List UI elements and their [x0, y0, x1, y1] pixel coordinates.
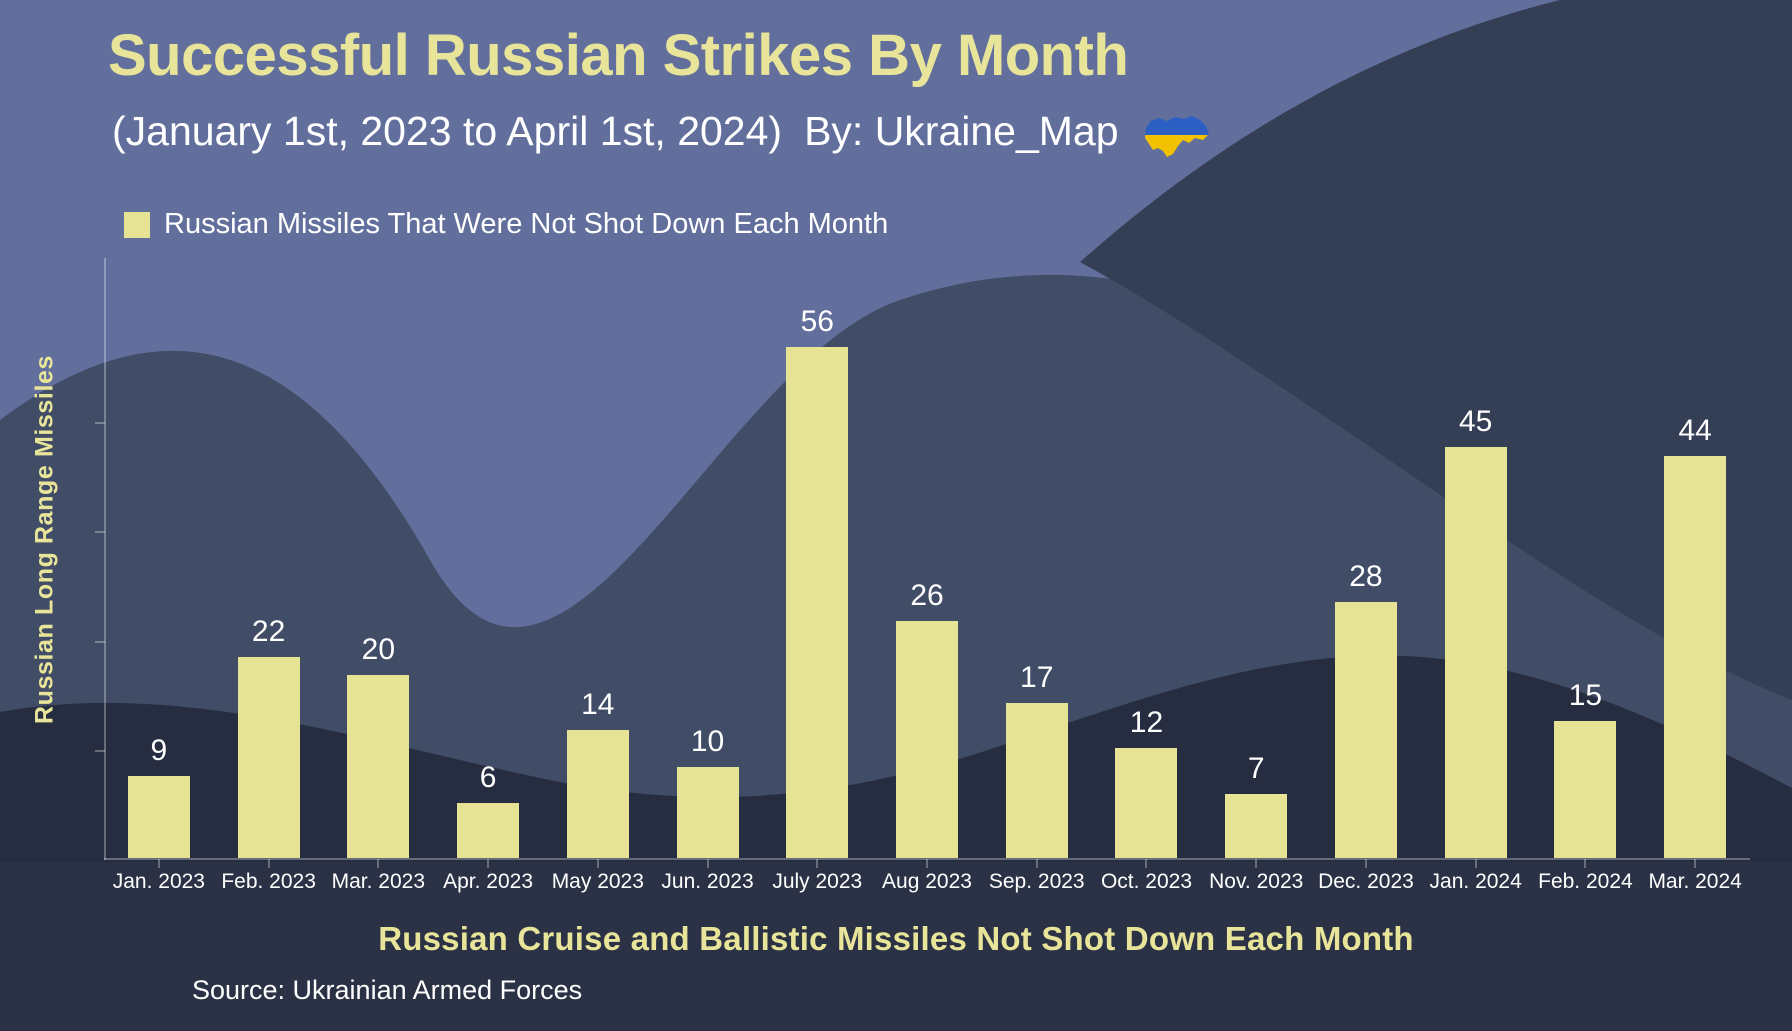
x-axis-tick-label: May 2023 [543, 870, 653, 894]
author-byline: By: Ukraine_Map [804, 108, 1118, 155]
x-axis-tick [926, 859, 928, 868]
bar-slot[interactable]: 7 [1201, 258, 1311, 858]
x-axis-tick-label: Feb. 2023 [214, 870, 324, 894]
bar-slot[interactable]: 9 [104, 258, 214, 858]
bar-value-label: 56 [801, 307, 834, 337]
bar[interactable] [786, 347, 848, 858]
bar-value-label: 22 [252, 617, 285, 647]
bar[interactable] [1115, 748, 1177, 858]
x-axis-tick-label: July 2023 [762, 870, 872, 894]
x-axis-tick-label: Apr. 2023 [433, 870, 543, 894]
x-axis-tick [1694, 859, 1696, 868]
x-axis-tick [816, 859, 818, 868]
x-axis-tick-label: Sep. 2023 [982, 870, 1092, 894]
bar-slot[interactable]: 6 [433, 258, 543, 858]
x-axis-tick [597, 859, 599, 868]
bar-series: 922206141056261712728451544 [104, 258, 1750, 858]
y-axis-tick [95, 641, 105, 643]
bar[interactable] [896, 621, 958, 858]
bar-value-label: 14 [581, 690, 614, 720]
bar-slot[interactable]: 56 [762, 258, 872, 858]
x-axis-tick-label: Feb. 2024 [1531, 870, 1641, 894]
bar-slot[interactable]: 15 [1531, 258, 1641, 858]
bar[interactable] [238, 657, 300, 858]
bar[interactable] [677, 767, 739, 858]
ukraine-map-icon [1137, 110, 1213, 160]
x-axis-tick [707, 859, 709, 868]
x-axis-tick-label: Mar. 2023 [323, 870, 433, 894]
bar-value-label: 6 [480, 763, 497, 793]
legend-label: Russian Missiles That Were Not Shot Down… [164, 208, 888, 241]
legend-color-swatch [124, 212, 150, 238]
x-axis-tick-label: Jan. 2023 [104, 870, 214, 894]
bar[interactable] [1225, 794, 1287, 858]
x-axis-title: Russian Cruise and Ballistic Missiles No… [0, 920, 1792, 958]
x-axis-tick [1145, 859, 1147, 868]
plot-area: 922206141056261712728451544 [104, 258, 1750, 860]
bar-value-label: 15 [1569, 681, 1602, 711]
y-axis-tick [95, 531, 105, 533]
x-axis-tick-label: Oct. 2023 [1092, 870, 1202, 894]
chart-canvas: Successful Russian Strikes By Month (Jan… [0, 0, 1792, 1031]
x-axis-tick [158, 859, 160, 868]
bar-value-label: 17 [1020, 663, 1053, 693]
x-axis-tick-label: Nov. 2023 [1201, 870, 1311, 894]
x-axis-tick [1475, 859, 1477, 868]
bar[interactable] [1006, 703, 1068, 858]
bar-slot[interactable]: 44 [1640, 258, 1750, 858]
bar-value-label: 28 [1349, 562, 1382, 592]
bar-value-label: 12 [1130, 708, 1163, 738]
bar-value-label: 10 [691, 727, 724, 757]
bar-value-label: 45 [1459, 407, 1492, 437]
bar-value-label: 26 [910, 581, 943, 611]
subtitle-row: (January 1st, 2023 to April 1st, 2024) B… [112, 106, 1213, 156]
bar-value-label: 20 [362, 635, 395, 665]
chart-legend: Russian Missiles That Were Not Shot Down… [124, 208, 888, 241]
y-axis-tick [95, 750, 105, 752]
bar[interactable] [1664, 456, 1726, 858]
x-axis-tick-labels: Jan. 2023Feb. 2023Mar. 2023Apr. 2023May … [104, 870, 1750, 894]
bar-slot[interactable]: 14 [543, 258, 653, 858]
x-axis-tick-label: Jun. 2023 [653, 870, 763, 894]
bar[interactable] [347, 675, 409, 858]
bar[interactable] [567, 730, 629, 858]
bar[interactable] [457, 803, 519, 858]
bar[interactable] [1554, 721, 1616, 858]
bar-slot[interactable]: 26 [872, 258, 982, 858]
x-axis-tick [1584, 859, 1586, 868]
bar-slot[interactable]: 22 [214, 258, 324, 858]
bar-value-label: 7 [1248, 754, 1265, 784]
x-axis-tick [487, 859, 489, 868]
x-axis-tick [1365, 859, 1367, 868]
bar-value-label: 44 [1678, 416, 1711, 446]
bar-slot[interactable]: 45 [1421, 258, 1531, 858]
bar-slot[interactable]: 28 [1311, 258, 1421, 858]
bar-slot[interactable]: 10 [653, 258, 763, 858]
x-axis-tick [268, 859, 270, 868]
bar-slot[interactable]: 12 [1092, 258, 1202, 858]
x-axis-tick [1255, 859, 1257, 868]
chart-subtitle: (January 1st, 2023 to April 1st, 2024) [112, 108, 782, 155]
x-axis-tick-label: Aug 2023 [872, 870, 982, 894]
page-title: Successful Russian Strikes By Month [108, 22, 1128, 89]
x-axis-tick [377, 859, 379, 868]
y-axis-title: Russian Long Range Missiles [31, 260, 60, 820]
source-note: Source: Ukrainian Armed Forces [192, 975, 582, 1006]
bar[interactable] [1445, 447, 1507, 858]
x-axis-tick [1036, 859, 1038, 868]
bar[interactable] [128, 776, 190, 858]
bar-slot[interactable]: 17 [982, 258, 1092, 858]
bar-slot[interactable]: 20 [323, 258, 433, 858]
y-axis-tick [95, 422, 105, 424]
x-axis-tick-label: Mar. 2024 [1640, 870, 1750, 894]
bar[interactable] [1335, 602, 1397, 858]
bar-value-label: 9 [151, 736, 168, 766]
x-axis-tick-label: Jan. 2024 [1421, 870, 1531, 894]
x-axis-tick-label: Dec. 2023 [1311, 870, 1421, 894]
